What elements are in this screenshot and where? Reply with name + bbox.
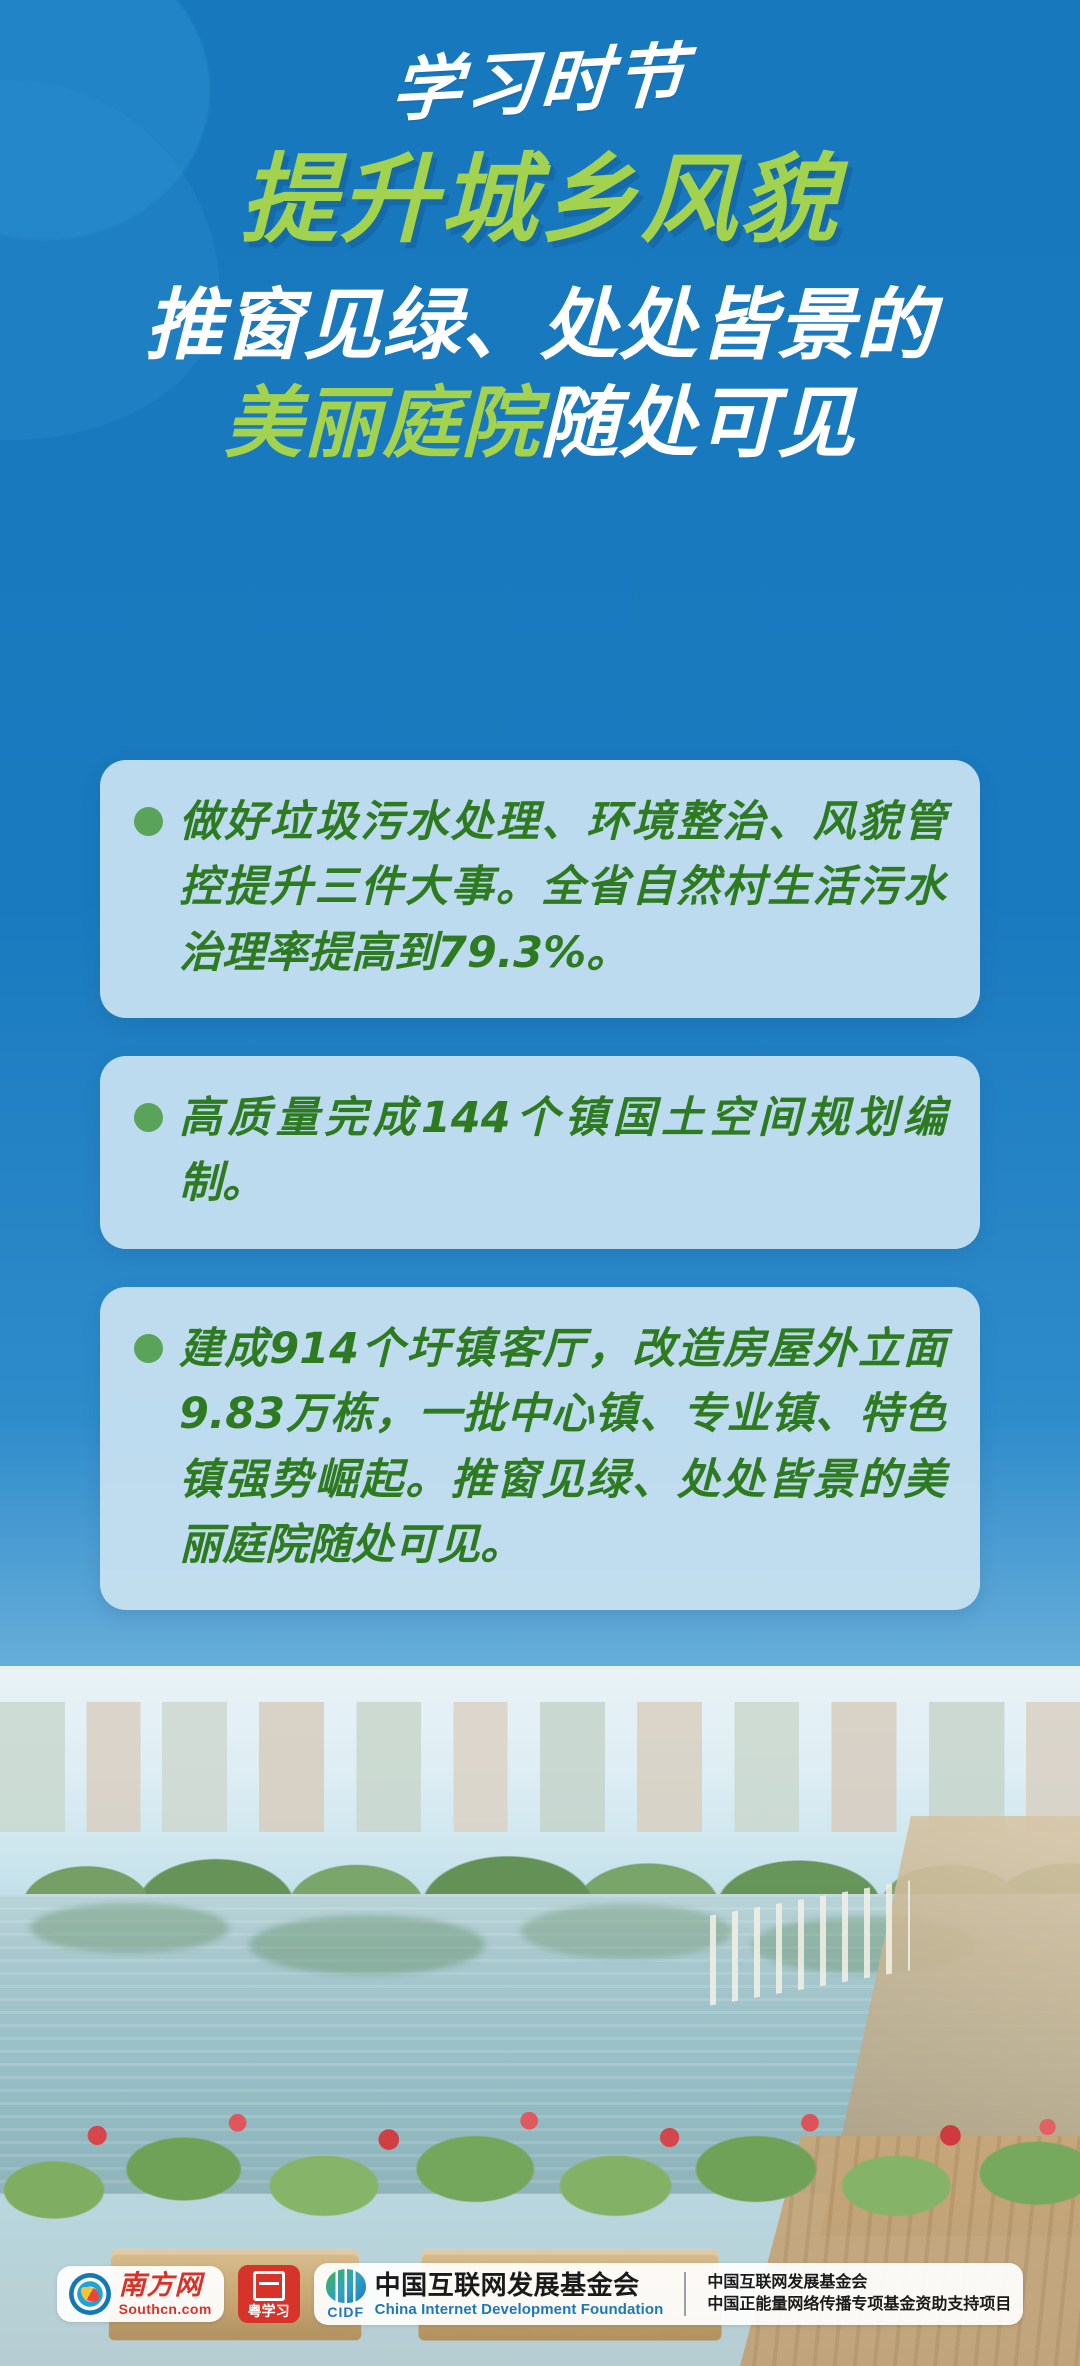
headline-highlight: 美丽庭院 [224,379,540,469]
footer-logo-bar: 南方网 Southcn.com 粤学习 CIDF 中国互联网发展基金会 Chin… [0,2254,1080,2334]
cidf-text: 中国互联网发展基金会 China Internet Development Fo… [375,2272,664,2317]
content-card: 建成914个圩镇客厅，改造房屋外立面9.83万栋，一批中心镇、专业镇、特色镇强势… [100,1287,980,1610]
content-card-list: 做好垃圾污水处理、环境整治、风貌管控提升三件大事。全省自然村生活污水治理率提高到… [100,760,980,1648]
bullet-dot-icon [134,807,163,836]
yuexuexi-logo[interactable]: 粤学习 [238,2265,300,2323]
southcn-label-en: Southcn.com [119,2302,212,2316]
content-card-text: 高质量完成144个镇国土空间规划编制。 [179,1086,946,1217]
cidf-label-en: China Internet Development Foundation [375,2302,664,2317]
cidf-mark: CIDF [326,2269,366,2319]
fund-credit-text: 中国互联网发展基金会 中国正能量网络传播专项基金资助支持项目 [707,2272,1011,2315]
southcn-logo[interactable]: 南方网 Southcn.com [57,2266,224,2322]
cidf-logo[interactable]: CIDF 中国互联网发展基金会 China Internet Developme… [314,2263,1024,2325]
bullet-dot-icon [134,1334,163,1363]
content-card: 做好垃圾污水处理、环境整治、风貌管控提升三件大事。全省自然村生活污水治理率提高到… [100,760,980,1018]
headline-subtitle-line2-rest: 随处可见 [540,379,856,469]
content-card-row: 建成914个圩镇客厅，改造房屋外立面9.83万栋，一批中心镇、专业镇、特色镇强势… [134,1317,946,1578]
brand-logo: 学习时节 [0,48,1080,118]
headline-subtitle: 推窗见绿、处处皆景的 美丽庭院随处可见 [0,277,1080,474]
content-card-row: 高质量完成144个镇国土空间规划编制。 [134,1086,946,1217]
southcn-mark-icon [69,2273,111,2315]
headline-block: 提升城乡风貌 推窗见绿、处处皆景的 美丽庭院随处可见 [0,148,1080,473]
headline-subtitle-line2: 美丽庭院随处可见 [0,375,1080,473]
yuexuexi-mark-icon [253,2271,285,2301]
scene-flower-bed [0,2064,1080,2274]
bullet-dot-icon [134,1103,163,1132]
brand-logo-text: 学习时节 [389,40,691,125]
cidf-logo-inner: CIDF 中国互联网发展基金会 China Internet Developme… [326,2269,1012,2319]
content-card-row: 做好垃圾污水处理、环境整治、风貌管控提升三件大事。全省自然村生活污水治理率提高到… [134,790,946,986]
headline-subtitle-line1: 推窗见绿、处处皆景的 [0,277,1080,375]
cidf-abbr-label: CIDF [327,2305,364,2319]
poster-root: 学习时节 提升城乡风貌 推窗见绿、处处皆景的 美丽庭院随处可见 做好垃圾污水处理… [0,0,1080,2366]
page-title: 提升城乡风貌 [0,148,1080,253]
southcn-logo-inner: 南方网 Southcn.com [69,2272,212,2316]
cidf-label-cn: 中国互联网发展基金会 [375,2272,664,2298]
content-card-text: 做好垃圾污水处理、环境整治、风貌管控提升三件大事。全省自然村生活污水治理率提高到… [179,790,946,986]
globe-icon [326,2269,366,2303]
yuexuexi-label: 粤学习 [248,2304,290,2318]
southcn-label-cn: 南方网 [119,2272,212,2299]
southcn-text: 南方网 Southcn.com [119,2272,212,2316]
footer-divider [684,2272,686,2316]
fund-credit-line1: 中国互联网发展基金会 [707,2272,1011,2294]
content-card-text: 建成914个圩镇客厅，改造房屋外立面9.83万栋，一批中心镇、专业镇、特色镇强势… [179,1317,946,1578]
content-card: 高质量完成144个镇国土空间规划编制。 [100,1056,980,1249]
fund-credit-line2: 中国正能量网络传播专项基金资助支持项目 [707,2294,1011,2316]
